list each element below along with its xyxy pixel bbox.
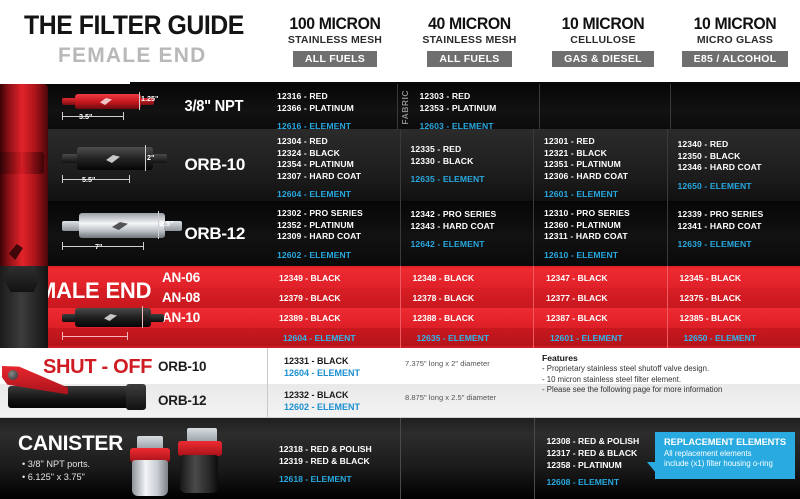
dimension-length-value: 7": [95, 242, 102, 251]
dimension-length-value: 3.5": [79, 112, 92, 121]
part-cell: 12318 - RED & POLISH 12319 - RED & BLACK…: [267, 418, 400, 499]
part-cell: 12316 - RED 12366 - PLATINUM 12616 - ELE…: [267, 84, 397, 129]
part-number: 12350 - BLACK: [678, 151, 800, 163]
part-number: 12321 - BLACK: [544, 148, 667, 160]
column-fuel-badge: ALL FUELS: [427, 51, 511, 67]
feature-item: - Proprietary stainless steel shutoff va…: [542, 364, 792, 375]
part-cell: 12349 - BLACK 12379 - BLACK 12389 - BLAC…: [267, 266, 400, 348]
part-number: 12360 - PLATINUM: [544, 220, 667, 232]
element-part-number: 12602 - ELEMENT: [277, 250, 400, 262]
canister-illustration-silver: [128, 436, 172, 498]
features-block: Features - Proprietary stainless steel s…: [542, 353, 792, 396]
filter-illustration-male: [62, 308, 167, 328]
part-number: 12389 - BLACK: [279, 308, 341, 328]
part-number: 12307 - HARD COAT: [277, 171, 400, 183]
part-number: 12311 - HARD COAT: [544, 231, 667, 243]
column-fuel-badge: GAS & DIESEL: [552, 51, 654, 67]
element-part-number: 12601 - ELEMENT: [550, 328, 623, 348]
part-cell: 12345 - BLACK 12375 - BLACK 12385 - BLAC…: [667, 266, 800, 348]
part-cell: 12301 - RED 12321 - BLACK 12351 - PLATIN…: [533, 129, 667, 201]
part-number: 12366 - PLATINUM: [277, 103, 397, 115]
part-cell: 12347 - BLACK 12377 - BLACK 12387 - BLAC…: [533, 266, 667, 348]
element-part-number: 12601 - ELEMENT: [544, 189, 667, 201]
part-cell: 12310 - PRO SERIES 12360 - PLATINUM 1231…: [533, 201, 667, 266]
column-material-label: STAINLESS MESH: [267, 33, 403, 47]
part-number: 12377 - BLACK: [546, 288, 608, 308]
part-number: 12319 - RED & BLACK: [279, 456, 400, 468]
part-number: 12346 - HARD COAT: [678, 162, 800, 174]
shut-off-cells: 12331 - BLACK 12604 - ELEMENT 7.375" lon…: [267, 348, 800, 418]
part-cell: 12335 - RED 12330 - BLACK 12635 - ELEMEN…: [400, 129, 534, 201]
part-number: 12302 - PRO SERIES: [277, 208, 400, 220]
part-number: 12301 - RED: [544, 136, 667, 148]
page-title: THE FILTER GUIDE: [24, 10, 244, 41]
element-part-number: 12650 - ELEMENT: [678, 181, 800, 193]
part-number: 12332 - BLACK: [284, 390, 349, 400]
column-material-label: MICRO GLASS: [670, 33, 800, 47]
part-number: 12349 - BLACK: [279, 268, 341, 288]
column-material-label: CELLULOSE: [536, 33, 670, 47]
row-size-label: AN-06: [162, 268, 267, 288]
callout-title: REPLACEMENT ELEMENTS: [664, 437, 788, 447]
dimension-line-length: [62, 336, 128, 337]
part-number: 12324 - BLACK: [277, 148, 400, 160]
replacement-elements-callout: REPLACEMENT ELEMENTS All replacement ele…: [655, 432, 795, 479]
dimension-line-diameter: [145, 145, 146, 171]
table-row: 3.5" 1.25" 3/8" NPT 12316 - RED 12366 - …: [0, 84, 800, 129]
part-number: 12343 - HARD COAT: [411, 221, 534, 233]
part-number: 12345 - BLACK: [680, 268, 742, 288]
dimension-diameter-value: 2": [147, 153, 154, 162]
part-number: 12304 - RED: [277, 136, 400, 148]
dimension-line-diameter: [142, 306, 143, 328]
dimension-line-length: [62, 246, 144, 247]
part-number: 12341 - HARD COAT: [678, 221, 800, 233]
row-cells: 12304 - RED 12324 - BLACK 12354 - PLATIN…: [267, 129, 800, 201]
part-cell-empty: [400, 418, 534, 499]
row-size-label: ORB-12: [158, 384, 267, 418]
row-cells: 12316 - RED 12366 - PLATINUM 12616 - ELE…: [267, 84, 800, 129]
column-material-label: STAINLESS MESH: [403, 33, 536, 47]
part-number: 12303 - RED: [420, 91, 540, 103]
row-cells: 12302 - PRO SERIES 12352 - PLATINUM 1230…: [267, 201, 800, 266]
column-micron-label: 10 MICRON: [541, 14, 666, 33]
filter-guide-page: THE FILTER GUIDE FEMALE END 100 MICRON S…: [0, 0, 800, 499]
part-number: 12353 - PLATINUM: [420, 103, 540, 115]
column-micron-label: 10 MICRON: [675, 14, 796, 33]
element-part-number: 12602 - ELEMENT: [284, 402, 360, 412]
table-row: 5.5" 2" ORB-10 12304 - RED 12324 - BLACK…: [0, 129, 800, 201]
element-part-number: 12604 - ELEMENT: [283, 328, 356, 348]
element-part-number: 12610 - ELEMENT: [544, 250, 667, 262]
part-number: 12335 - RED: [411, 144, 534, 156]
part-number: 12388 - BLACK: [413, 308, 475, 328]
part-number: 12342 - PRO SERIES: [411, 209, 534, 221]
part-cell: 12340 - RED 12350 - BLACK 12346 - HARD C…: [667, 129, 800, 201]
part-number: 12330 - BLACK: [411, 156, 534, 168]
column-micron-label: 40 MICRON: [408, 14, 532, 33]
column-fuel-badge: ALL FUELS: [293, 51, 377, 67]
column-header-10-micron-micro-glass: 10 MICRON MICRO GLASS E85 / ALCOHOL: [670, 14, 800, 67]
dimension-length-value: 5.5": [82, 175, 95, 184]
shutoff-valve-body-illustration: [8, 386, 142, 408]
dimension-line-length: [62, 116, 124, 117]
row-size-label: ORB-10: [158, 350, 267, 384]
column-header-10-micron-cellulose: 10 MICRON CELLULOSE GAS & DIESEL: [536, 14, 670, 67]
part-number: 12309 - HARD COAT: [277, 231, 400, 243]
part-number: 12375 - BLACK: [680, 288, 742, 308]
part-number: 12310 - PRO SERIES: [544, 208, 667, 220]
part-number: 12340 - RED: [678, 139, 800, 151]
dimension-text: 7.375" long x 2" diameter: [405, 359, 490, 368]
canister-spec-item: • 3/8" NPT ports.: [22, 458, 90, 471]
part-cell-empty: [670, 84, 800, 129]
feature-item: - 10 micron stainless steel filter eleme…: [542, 375, 792, 386]
callout-line-2: include (x1) filter housing o-ring: [664, 459, 788, 469]
male-size-labels: AN-06 AN-08 AN-10: [162, 266, 267, 348]
element-part-number: 12604 - ELEMENT: [284, 368, 360, 378]
part-number: 12352 - PLATINUM: [277, 220, 400, 232]
column-header-100-micron: 100 MICRON STAINLESS MESH ALL FUELS: [267, 14, 403, 67]
element-part-number: 12635 - ELEMENT: [411, 174, 534, 186]
canister-specs: • 3/8" NPT ports. • 6.125" x 3.75": [22, 458, 90, 484]
row-size-label: 3/8" NPT: [185, 98, 244, 116]
canister-spec-item: • 6.125" x 3.75": [22, 471, 90, 484]
fabric-label: FABRIC: [400, 90, 410, 125]
part-cell: 12304 - RED 12324 - BLACK 12354 - PLATIN…: [267, 129, 400, 201]
part-cell-empty: [539, 84, 670, 129]
section-label-male-end: MALE END: [38, 278, 151, 304]
part-cell: FABRIC 12303 - RED 12353 - PLATINUM 1260…: [397, 84, 540, 129]
column-header-40-micron: 40 MICRON STAINLESS MESH ALL FUELS: [403, 14, 536, 67]
male-end-section: MALE END AN-06 AN-08 AN-10 5.5" 2" 12349…: [0, 266, 800, 348]
brand-logo-mark-icon: [9, 244, 23, 260]
shut-off-size-labels: ORB-10 ORB-12: [158, 348, 267, 418]
element-part-number: 12642 - ELEMENT: [411, 239, 534, 251]
part-number: 12378 - BLACK: [413, 288, 475, 308]
dimension-text: 8.875" long x 2.5" diameter: [405, 393, 496, 402]
part-cell: 12348 - BLACK 12378 - BLACK 12388 - BLAC…: [400, 266, 534, 348]
canister-illustration-black: [176, 428, 224, 498]
part-cell: 12339 - PRO SERIES 12341 - HARD COAT 126…: [667, 201, 800, 266]
row-size-label: ORB-12: [184, 224, 245, 244]
part-number: 12339 - PRO SERIES: [678, 209, 800, 221]
female-end-section: 3.5" 1.25" 3/8" NPT 12316 - RED 12366 - …: [0, 84, 800, 266]
part-number: 12331 - BLACK: [284, 356, 349, 366]
section-label-female-end: FEMALE END: [58, 44, 207, 68]
features-title: Features: [542, 353, 792, 363]
element-part-number: 12650 - ELEMENT: [684, 328, 757, 348]
feature-item: - Please see the following page for more…: [542, 385, 792, 396]
male-end-cells: 12349 - BLACK 12379 - BLACK 12389 - BLAC…: [267, 266, 800, 348]
row-size-label: AN-10: [162, 308, 267, 328]
dimension-line-length: [62, 179, 130, 180]
element-part-number: 12639 - ELEMENT: [678, 239, 800, 251]
part-number: 12306 - HARD COAT: [544, 171, 667, 183]
part-number: 12347 - BLACK: [546, 268, 608, 288]
part-number: 12379 - BLACK: [279, 288, 341, 308]
dimension-line-diameter: [139, 92, 140, 110]
dimension-diameter-value: 2.5": [160, 219, 173, 228]
part-number: 12348 - BLACK: [413, 268, 475, 288]
part-number: 12351 - PLATINUM: [544, 159, 667, 171]
section-label-shut-off: SHUT - OFF: [43, 356, 152, 379]
element-part-number: 12618 - ELEMENT: [279, 474, 400, 486]
part-cell: 12308 - RED & POLISH 12317 - RED & BLACK…: [534, 418, 668, 499]
table-row: 7" 2.5" ORB-12 12302 - PRO SERIES 12352 …: [0, 201, 800, 266]
element-part-number: 12608 - ELEMENT: [547, 477, 668, 489]
callout-line-1: All replacement elements: [664, 449, 788, 459]
dimension-line-diameter: [158, 211, 159, 239]
row-size-label: AN-08: [162, 288, 267, 308]
part-number: 12308 - RED & POLISH: [547, 436, 668, 448]
part-number: 12317 - RED & BLACK: [547, 448, 668, 460]
part-number: 12318 - RED & POLISH: [279, 444, 400, 456]
tank-cap: [0, 152, 44, 174]
element-part-number: 12635 - ELEMENT: [417, 328, 490, 348]
shutoff-valve-pivot-icon: [8, 370, 18, 380]
dimension-diameter-value: 1.25": [141, 94, 158, 103]
part-cell: 12342 - PRO SERIES 12343 - HARD COAT 126…: [400, 201, 534, 266]
part-number: 12354 - PLATINUM: [277, 159, 400, 171]
part-number: 12385 - BLACK: [680, 308, 742, 328]
column-fuel-badge: E85 / ALCOHOL: [682, 51, 789, 67]
section-label-canister: CANISTER: [18, 432, 123, 456]
part-cell: 12302 - PRO SERIES 12352 - PLATINUM 1230…: [267, 201, 400, 266]
shutoff-valve-cap: [126, 384, 146, 410]
part-number: 12316 - RED: [277, 91, 397, 103]
column-micron-label: 100 MICRON: [272, 14, 398, 33]
row-size-label: ORB-10: [184, 155, 245, 175]
callout-tail: [647, 462, 656, 473]
element-part-number: 12604 - ELEMENT: [277, 189, 400, 201]
part-number: 12387 - BLACK: [546, 308, 608, 328]
page-header: THE FILTER GUIDE FEMALE END 100 MICRON S…: [0, 0, 800, 84]
